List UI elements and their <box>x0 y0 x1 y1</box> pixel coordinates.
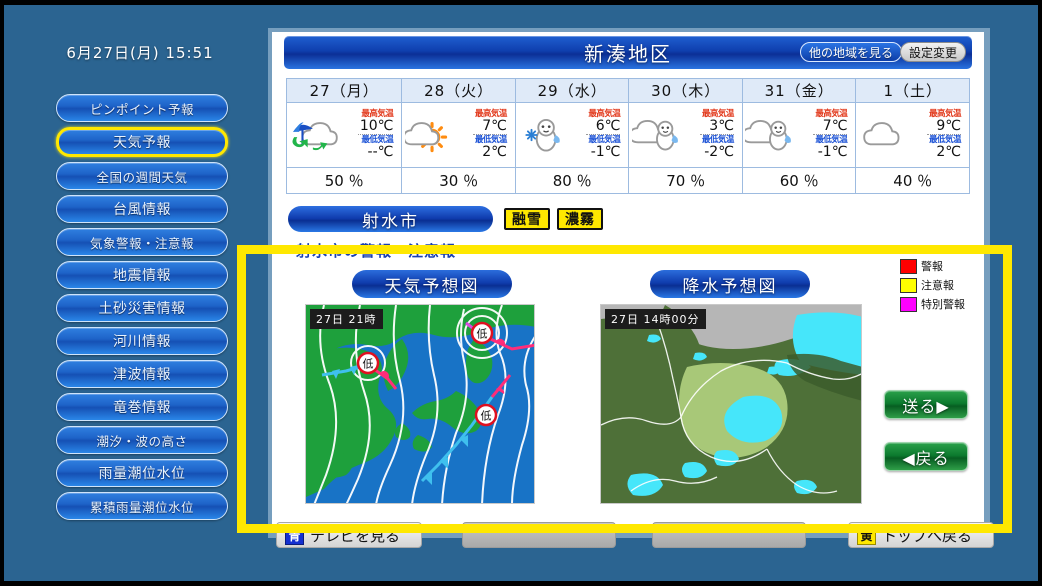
low-temp-value: 2℃ <box>459 145 507 160</box>
legend-label: 特別警報 <box>921 296 965 312</box>
forecast-cell: 最高気温7℃最低気温-1℃ <box>742 103 856 167</box>
low-temp-value: -2℃ <box>686 145 734 160</box>
sidebar-item-label: 津波情報 <box>113 364 171 384</box>
city-name: 射水市 <box>288 206 493 232</box>
precip-probability: 80 ％ <box>515 167 629 193</box>
sidebar-item-label: ピンポイント予報 <box>90 99 194 118</box>
bottom-button-yellow[interactable]: 黄トップへ戻る <box>848 522 994 548</box>
sidebar-item-earthquake-info[interactable]: 地震情報 <box>56 261 228 289</box>
low-temp-value: -1℃ <box>799 145 847 160</box>
color-chip-blue: 青 <box>285 526 304 545</box>
region-header: 新湊地区 他の地域を見る 設定変更 <box>284 36 972 69</box>
forecast-date: 28（火） <box>402 79 516 103</box>
sidebar-item-landslide-info[interactable]: 土砂災害情報 <box>56 294 228 322</box>
forecast-cell: 最高気温10℃最低気温--℃ <box>287 103 402 167</box>
forecast-date: 31（金） <box>742 79 856 103</box>
sidebar: ピンポイント予報天気予報全国の週間天気台風情報気象警報・注意報地震情報土砂災害情… <box>56 94 228 525</box>
tv-weather-screen: 6月27日(月) 15:51 ピンポイント予報天気予報全国の週間天気台風情報気象… <box>0 0 1042 586</box>
sidebar-item-typhoon-info[interactable]: 台風情報 <box>56 195 228 223</box>
forecast-date: 30（木） <box>629 79 743 103</box>
bottom-button-empty[interactable] <box>652 522 806 548</box>
legend-swatch <box>900 297 917 312</box>
sidebar-item-label: 全国の週間天気 <box>96 167 187 186</box>
forecast-date: 1（土） <box>856 79 970 103</box>
sidebar-item-weather-forecast[interactable]: 天気予報 <box>56 127 228 157</box>
precipitation-forecast-map[interactable]: 27日 14時00分 <box>600 304 862 504</box>
letterbox-top <box>0 0 1042 5</box>
letterbox-right <box>1038 0 1042 586</box>
warning-badge-fog: 濃霧 <box>557 208 603 230</box>
sidebar-item-rainfall-tide-level[interactable]: 雨量潮位水位 <box>56 459 228 487</box>
sidebar-item-label: 竜巻情報 <box>113 397 171 417</box>
legend-item: 注意報 <box>900 277 980 293</box>
bottom-button-label: トップへ戻る <box>882 525 972 546</box>
sidebar-item-label: 累積雨量潮位水位 <box>90 497 194 516</box>
legend-swatch <box>900 278 917 293</box>
sidebar-item-label: 台風情報 <box>113 199 171 219</box>
weather-icon-rain-cloud <box>287 115 344 155</box>
other-area-button[interactable]: 他の地域を見る <box>800 42 902 62</box>
svg-text:低: 低 <box>477 328 488 341</box>
sidebar-item-label: 土砂災害情報 <box>99 298 186 318</box>
sidebar-item-weather-warnings[interactable]: 気象警報・注意報 <box>56 228 228 256</box>
settings-button[interactable]: 設定変更 <box>900 42 966 62</box>
weather-forecast-map[interactable]: 27日 21時 <box>305 304 535 504</box>
sidebar-item-label: 河川情報 <box>113 331 171 351</box>
warning-legend: 警報注意報特別警報 <box>900 258 980 315</box>
sidebar-item-label: 地震情報 <box>113 265 171 285</box>
next-button[interactable]: 送る▶ <box>884 390 968 419</box>
legend-item: 警報 <box>900 258 980 274</box>
sidebar-item-label: 雨量潮位水位 <box>99 463 186 483</box>
forecast-body-row: 最高気温10℃最低気温--℃最高気温7℃最低気温2℃最高気温6℃最低気温-1℃最… <box>287 103 970 167</box>
low-temp-value: -1℃ <box>572 145 620 160</box>
warnings-heading: 射水市の警報・注意報 <box>296 240 456 261</box>
sidebar-item-label: 天気予報 <box>113 132 171 152</box>
radar-chart-graphic <box>601 305 862 504</box>
high-temp-value: 3℃ <box>686 119 734 134</box>
legend-item: 特別警報 <box>900 296 980 312</box>
forecast-date: 29（水） <box>515 79 629 103</box>
synoptic-chart-graphic: 低 低 低 <box>306 305 535 504</box>
forecast-cell: 最高気温3℃最低気温-2℃ <box>629 103 743 167</box>
forecast-pop-row: 50 ％30 ％80 ％70 ％60 ％40 ％ <box>287 167 970 193</box>
sidebar-item-tide-wave-height[interactable]: 潮汐・波の高さ <box>56 426 228 454</box>
forecast-table: 27（月）28（火）29（水）30（木）31（金）1（土） 最高気温10℃最低気… <box>286 78 970 194</box>
legend-label: 警報 <box>921 258 943 274</box>
weather-icon-snow <box>516 115 572 155</box>
high-temp-value: 10℃ <box>344 119 393 134</box>
precip-map-timestamp: 27日 14時00分 <box>605 309 706 329</box>
weather-icon-cloud-snow <box>629 115 685 155</box>
warning-badge-thaw: 融雪 <box>504 208 550 230</box>
precip-map-title: 降水予想図 <box>650 270 810 298</box>
legend-label: 注意報 <box>921 277 954 293</box>
color-chip-yellow: 黄 <box>857 526 876 545</box>
forecast-cell: 最高気温9℃最低気温2℃ <box>856 103 970 167</box>
low-temp-value: --℃ <box>344 145 393 160</box>
svg-text:低: 低 <box>481 410 492 423</box>
high-temp-value: 7℃ <box>459 119 507 134</box>
weather-icon-cloud-snow <box>743 115 799 155</box>
sidebar-item-national-weekly-weather[interactable]: 全国の週間天気 <box>56 162 228 190</box>
sidebar-item-tornado-info[interactable]: 竜巻情報 <box>56 393 228 421</box>
back-button[interactable]: ◀戻る <box>884 442 968 471</box>
forecast-cell: 最高気温7℃最低気温2℃ <box>402 103 516 167</box>
precip-probability: 60 ％ <box>742 167 856 193</box>
precip-probability: 70 ％ <box>629 167 743 193</box>
high-temp-value: 7℃ <box>799 119 847 134</box>
svg-text:低: 低 <box>363 358 374 371</box>
current-datetime: 6月27日(月) 15:51 <box>40 42 240 63</box>
forecast-date: 27（月） <box>287 79 402 103</box>
high-temp-value: 6℃ <box>572 119 620 134</box>
bottom-button-empty[interactable] <box>462 522 616 548</box>
low-temp-value: 2℃ <box>913 145 961 160</box>
legend-swatch <box>900 259 917 274</box>
precip-probability: 30 ％ <box>402 167 516 193</box>
weather-icon-cloud-sun <box>402 115 458 155</box>
letterbox-bottom <box>0 581 1042 586</box>
forecast-cell: 最高気温6℃最低気温-1℃ <box>515 103 629 167</box>
letterbox-left <box>0 0 4 586</box>
weather-map-timestamp: 27日 21時 <box>310 309 383 329</box>
precip-probability: 40 ％ <box>856 167 970 193</box>
bottom-button-blue[interactable]: 青テレビを見る <box>276 522 422 548</box>
sidebar-item-tsunami-info[interactable]: 津波情報 <box>56 360 228 388</box>
high-temp-value: 9℃ <box>913 119 961 134</box>
weather-icon-cloud <box>856 115 912 155</box>
sidebar-item-label: 気象警報・注意報 <box>90 233 194 252</box>
sidebar-item-pinpoint-forecast[interactable]: ピンポイント予報 <box>56 94 228 122</box>
weather-map-title: 天気予想図 <box>352 270 512 298</box>
forecast-date-row: 27（月）28（火）29（水）30（木）31（金）1（土） <box>287 79 970 103</box>
sidebar-item-label: 潮汐・波の高さ <box>96 431 187 450</box>
sidebar-item-cumulative-rainfall-tide-level[interactable]: 累積雨量潮位水位 <box>56 492 228 520</box>
bottom-button-label: テレビを見る <box>310 525 400 546</box>
sidebar-item-river-info[interactable]: 河川情報 <box>56 327 228 355</box>
precip-probability: 50 ％ <box>287 167 402 193</box>
